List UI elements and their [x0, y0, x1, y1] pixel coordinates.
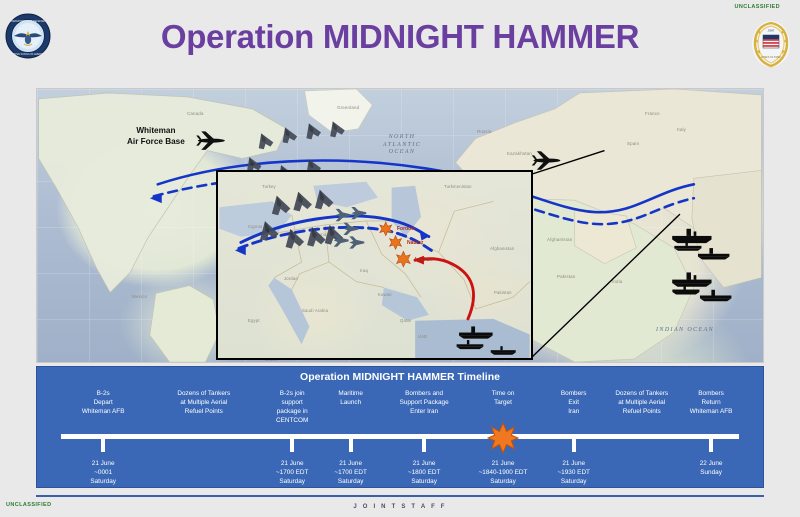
classification-banner-top: UNCLASSIFIED	[735, 4, 780, 10]
timeline-tick-b2s-join-support	[290, 439, 294, 452]
timeline-axis-bar	[61, 434, 739, 439]
target-burst-natanz	[390, 236, 402, 250]
timeline-date-b2s-depart: 21 June ~0001 Saturday	[55, 459, 151, 486]
target-label-fordow: Fordow	[397, 226, 415, 232]
svg-text:CHIEFS OF STAFF: CHIEFS OF STAFF	[761, 56, 782, 59]
timeline-tick-b2s-depart	[101, 439, 105, 452]
timeline-tick-bombers-enter-iran	[422, 439, 426, 452]
timeline-tick-bombers-exit-iran	[572, 439, 576, 452]
joint-chiefs-of-staff-seal-icon: JOINT CHIEFS OF STAFF	[750, 19, 792, 69]
svg-text:JOINT: JOINT	[768, 30, 775, 33]
footer-organization: J O I N T S T A F F	[0, 504, 800, 510]
target-burst-fordow	[380, 222, 392, 236]
inset-route-layer	[218, 172, 531, 358]
centcom-inset-map: TurkeyTurkmenistanIranIraqSyriaAfghanist…	[216, 170, 533, 360]
timeline-time-on-target-burst-icon	[487, 422, 519, 454]
timeline-date-bombers-exit-iran: 21 June ~1930 EDT Saturday	[526, 459, 622, 486]
page-title: Operation MIDNIGHT HAMMER	[0, 18, 800, 56]
timeline-tick-maritime-launch	[349, 439, 353, 452]
target-label-natanz: Natanz	[407, 240, 423, 246]
timeline-event-tankers-refuel-1: Dozens of Tankers at Multiple Aerial Ref…	[156, 389, 252, 416]
timeline-date-bombers-return: 22 June Sunday	[663, 459, 759, 477]
target-label-isfahan: Isfahan	[415, 257, 433, 263]
timeline-event-bombers-return: Bombers Return Whiteman AFB	[663, 389, 759, 416]
whiteman-afb-label: Whiteman Air Force Base	[127, 125, 185, 147]
target-burst-isfahan	[397, 251, 411, 267]
timeline-title: Operation MIDNIGHT HAMMER Timeline	[37, 371, 763, 383]
slide-canvas: UNCLASSIFIED UNCLASSIFIED DEPARTMENT OF …	[0, 0, 800, 517]
operation-timeline-panel: Operation MIDNIGHT HAMMER Timeline B-2s …	[36, 366, 764, 488]
timeline-event-b2s-depart: B-2s Depart Whiteman AFB	[55, 389, 151, 416]
operation-route-map: NORTH ATLANTIC OCEAN INDIAN OCEAN Turkey…	[36, 88, 764, 363]
timeline-tick-bombers-return	[709, 439, 713, 452]
footer-divider	[36, 495, 764, 497]
